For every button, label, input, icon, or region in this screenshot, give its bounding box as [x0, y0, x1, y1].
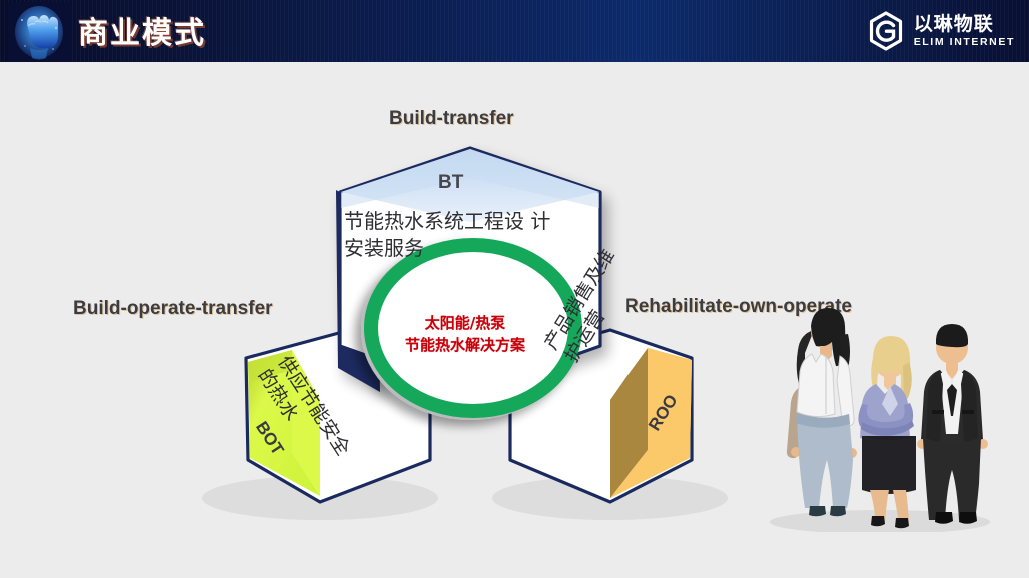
brand-name-en: ELIM INTERNET [914, 37, 1015, 48]
brand-text: 以琳物联 ELIM INTERNET [914, 15, 1015, 48]
page-title: 商业模式 [78, 8, 206, 52]
brand-logo: 以琳物联 ELIM INTERNET [866, 9, 1015, 53]
person-right [917, 324, 988, 524]
slide-canvas: 商业模式 以琳物联 ELIM INTERNET Build-transfer B… [0, 0, 1029, 578]
center-solution-text: 太阳能/热泵 节能热水解决方案 [391, 313, 539, 357]
brand-name-cn: 以琳物联 [914, 15, 1015, 34]
hexagon-g-logo-icon [866, 11, 906, 51]
business-people-illustration [762, 300, 998, 532]
fist-icon [8, 2, 70, 62]
person-left [787, 308, 857, 516]
caption-build-transfer: Build-transfer [389, 108, 514, 130]
center-line-1: 太阳能/热泵 [391, 313, 539, 335]
hexagon-bt-tag: BT [438, 172, 463, 194]
slide-header: 商业模式 以琳物联 ELIM INTERNET [0, 0, 1029, 62]
center-line-2: 节能热水解决方案 [391, 335, 539, 357]
hexagon-bt-body: 节能热水系统工程设 计 安装服务 [344, 208, 579, 262]
person-center [858, 336, 916, 528]
